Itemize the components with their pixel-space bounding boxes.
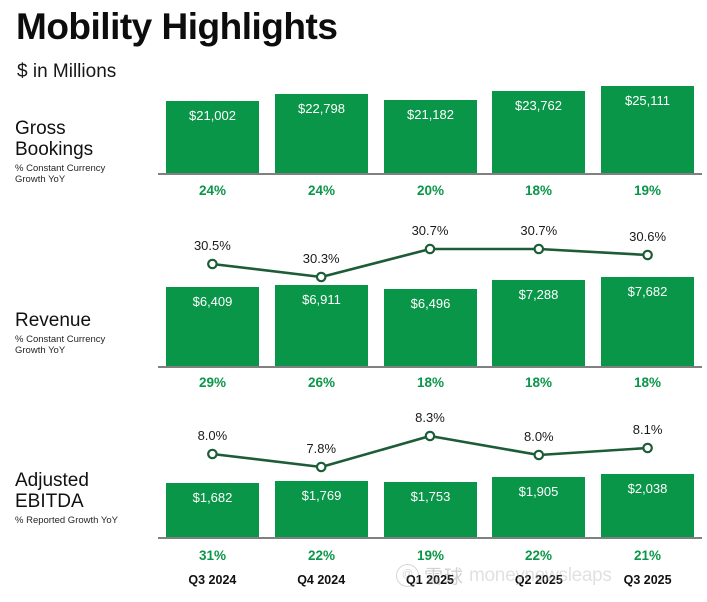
row-label-adjusted-ebitda-note: % Reported Growth YoY <box>15 515 155 526</box>
row-label-gross-bookings: Gross Bookings % Constant Currency Growt… <box>15 118 155 185</box>
chart-row-3: $1,68231%$1,76922%$1,75319%$1,90522%$2,0… <box>158 0 702 602</box>
axis-line <box>158 537 702 539</box>
bar[interactable]: $1,682 <box>166 483 259 537</box>
x-axis-tick: Q3 2025 <box>624 573 672 587</box>
row-label-adjusted-ebitda-name: Adjusted EBITDA <box>15 470 155 512</box>
growth-label: 22% <box>492 548 585 563</box>
x-axis-tick: Q4 2024 <box>297 573 345 587</box>
bar[interactable]: $1,769 <box>275 481 368 537</box>
line-point-label: 8.0% <box>524 429 554 444</box>
line-marker[interactable] <box>317 463 325 471</box>
growth-label: 31% <box>166 548 259 563</box>
bar[interactable]: $2,038 <box>601 474 694 537</box>
bar-value-label: $1,682 <box>166 490 259 505</box>
row-label-gross-bookings-note: % Constant Currency Growth YoY <box>15 163 155 185</box>
line-point-label: 8.0% <box>198 428 228 443</box>
bar-value-label: $1,905 <box>492 484 585 499</box>
bar-value-label: $1,769 <box>275 488 368 503</box>
line-marker[interactable] <box>426 432 434 440</box>
line-point-label: 7.8% <box>306 441 336 456</box>
row-label-revenue-name: Revenue <box>15 310 155 331</box>
line-marker[interactable] <box>643 444 651 452</box>
row-label-revenue: Revenue % Constant Currency Growth YoY <box>15 310 155 356</box>
line-marker[interactable] <box>535 451 543 459</box>
line-point-label: 8.1% <box>633 422 663 437</box>
row-label-revenue-note: % Constant Currency Growth YoY <box>15 334 155 356</box>
row-label-gross-bookings-name: Gross Bookings <box>15 118 155 160</box>
page-subtitle: $ in Millions <box>17 61 116 83</box>
x-axis-tick: Q3 2024 <box>188 573 236 587</box>
x-axis-tick: Q1 2025 <box>406 573 454 587</box>
bar-value-label: $2,038 <box>601 481 694 496</box>
slide-canvas: Mobility Highlights $ in Millions Gross … <box>0 0 707 602</box>
growth-label: 22% <box>275 548 368 563</box>
x-axis-tick: Q2 2025 <box>515 573 563 587</box>
growth-label: 19% <box>384 548 477 563</box>
line-point-label: 8.3% <box>415 410 445 425</box>
bar-value-label: $1,753 <box>384 489 477 504</box>
row-label-adjusted-ebitda: Adjusted EBITDA % Reported Growth YoY <box>15 470 155 526</box>
bar[interactable]: $1,753 <box>384 482 477 537</box>
line-marker[interactable] <box>208 450 216 458</box>
bar[interactable]: $1,905 <box>492 477 585 537</box>
growth-label: 21% <box>601 548 694 563</box>
